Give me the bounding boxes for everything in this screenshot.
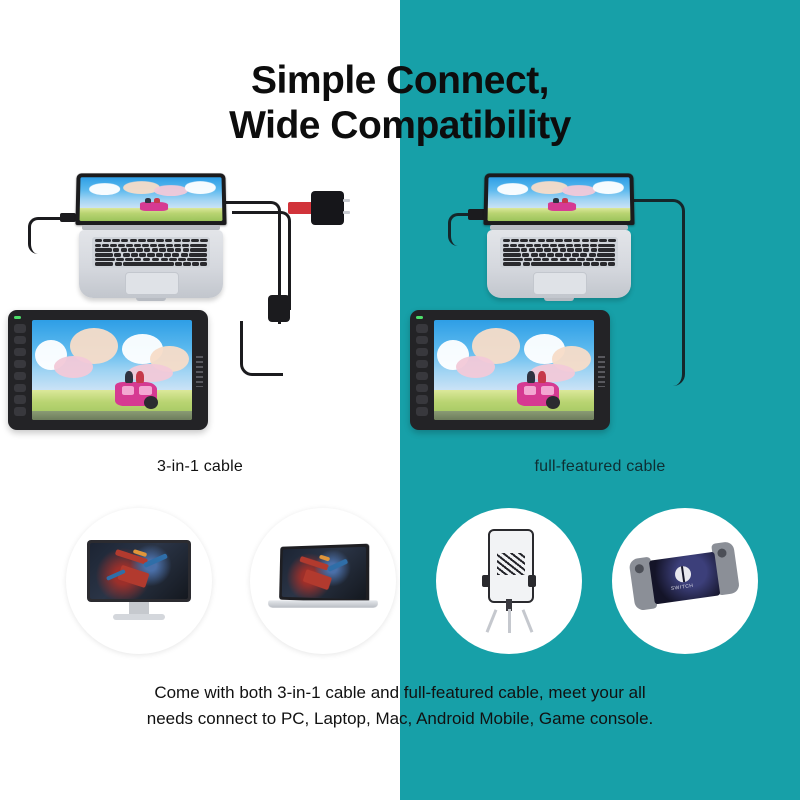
- footer-description: Come with both 3-in-1 cable and full-fea…: [0, 680, 800, 732]
- device-circle-laptop: [250, 508, 396, 654]
- laptop-lid: [75, 173, 226, 225]
- laptop-left: [76, 173, 226, 301]
- laptop-trackpad: [533, 272, 587, 294]
- artwork-car-scene: [488, 177, 631, 221]
- tablet-brand-mark: [196, 356, 203, 387]
- desktop-monitor-icon: [87, 540, 191, 622]
- device-circle-game-console: SWITCH: [612, 508, 758, 654]
- laptop-screen: [488, 177, 631, 221]
- laptop-base: [487, 230, 631, 298]
- laptop-keyboard: [500, 237, 618, 268]
- tablet-brand-mark: [598, 356, 605, 387]
- device-circle-pc-monitor: [66, 508, 212, 654]
- pen-display-right: [410, 310, 610, 430]
- laptop-keyboard: [92, 237, 210, 268]
- power-adapter: [311, 191, 344, 225]
- laptop-base: [79, 230, 223, 298]
- compatible-devices-row: SWITCH: [0, 505, 800, 657]
- phone-tripod-icon: [472, 529, 546, 633]
- footer-line-2: needs connect to PC, Laptop, Mac, Androi…: [0, 706, 800, 732]
- device-circle-phone-tripod: [436, 508, 582, 654]
- footer-line-1: Come with both 3-in-1 cable and full-fea…: [0, 680, 800, 706]
- game-console-icon: SWITCH: [626, 541, 744, 622]
- artwork-car-scene: [32, 320, 192, 421]
- laptop-icon: [268, 545, 378, 617]
- express-keys: [416, 324, 428, 415]
- laptop-foot: [544, 298, 574, 301]
- laptop-foot: [136, 298, 166, 301]
- pen-display-screen: [32, 320, 192, 421]
- plug-left-usb: [60, 213, 76, 222]
- laptop-right: [484, 173, 634, 301]
- laptop-lid: [483, 173, 634, 225]
- caption-3in1-cable: 3-in-1 cable: [0, 458, 400, 476]
- cable-to-tablet: [240, 321, 283, 376]
- panel-3in1-cable: [0, 165, 400, 485]
- laptop-trackpad: [125, 272, 179, 294]
- title-line-2: Wide Compatibility: [0, 103, 800, 148]
- pen-display-left: [8, 310, 208, 430]
- power-led-icon: [416, 316, 423, 319]
- page-title: Simple Connect, Wide Compatibility: [0, 58, 800, 148]
- panel-full-featured-cable: [400, 165, 800, 485]
- caption-full-featured-cable: full-featured cable: [400, 458, 800, 476]
- pen-display-screen: [434, 320, 594, 421]
- artwork-car-scene: [80, 177, 223, 221]
- infographic-canvas: Simple Connect, Wide Compatibility: [0, 0, 800, 800]
- express-keys: [14, 324, 26, 415]
- title-line-1: Simple Connect,: [251, 59, 549, 102]
- artwork-car-scene: [434, 320, 594, 421]
- laptop-screen: [80, 177, 223, 221]
- power-led-icon: [14, 316, 21, 319]
- cable-junction-block: [268, 295, 290, 322]
